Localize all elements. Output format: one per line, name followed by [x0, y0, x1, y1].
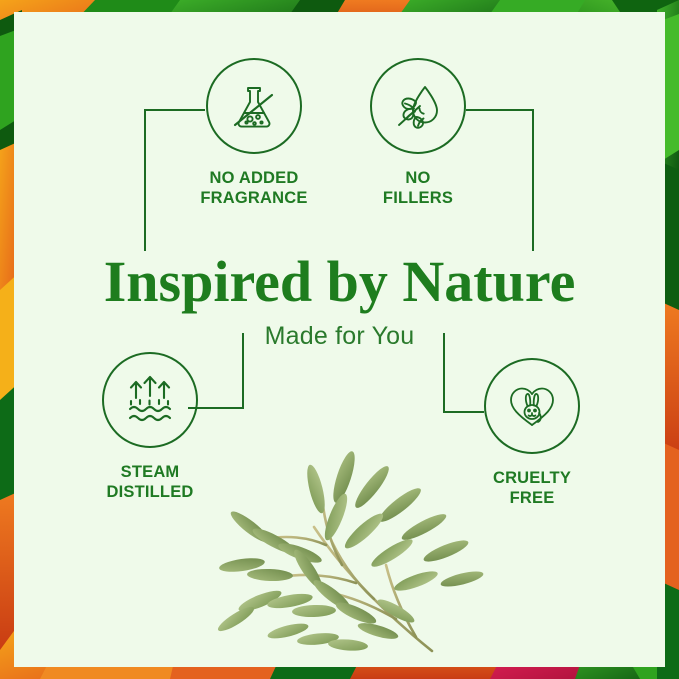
flask-no-fragrance-icon	[223, 75, 285, 137]
badge-label: NO ADDED FRAGRANCE	[198, 168, 310, 208]
badge-no-fillers[interactable]: NO FILLERS	[362, 58, 474, 208]
page-title: Inspired by Nature	[0, 252, 679, 312]
tea-tree-branch-illustration	[196, 405, 496, 667]
badge-circle	[484, 358, 580, 454]
page-subtitle: Made for You	[0, 322, 679, 351]
promo-graphic: NO ADDED FRAGRANCE NO FILLERS	[0, 0, 679, 679]
badge-circle	[206, 58, 302, 154]
badge-circle	[102, 352, 198, 448]
steam-arrows-water-icon	[118, 368, 182, 432]
badge-circle	[370, 58, 466, 154]
badge-label: NO FILLERS	[362, 168, 474, 208]
droplet-leaves-icon	[387, 75, 449, 137]
headline-block: Inspired by Nature Made for You	[0, 252, 679, 351]
badge-no-added-fragrance[interactable]: NO ADDED FRAGRANCE	[198, 58, 310, 208]
rabbit-heart-icon	[501, 375, 563, 437]
badge-label: STEAM DISTILLED	[88, 462, 212, 502]
badge-steam-distilled[interactable]: STEAM DISTILLED	[88, 352, 212, 502]
